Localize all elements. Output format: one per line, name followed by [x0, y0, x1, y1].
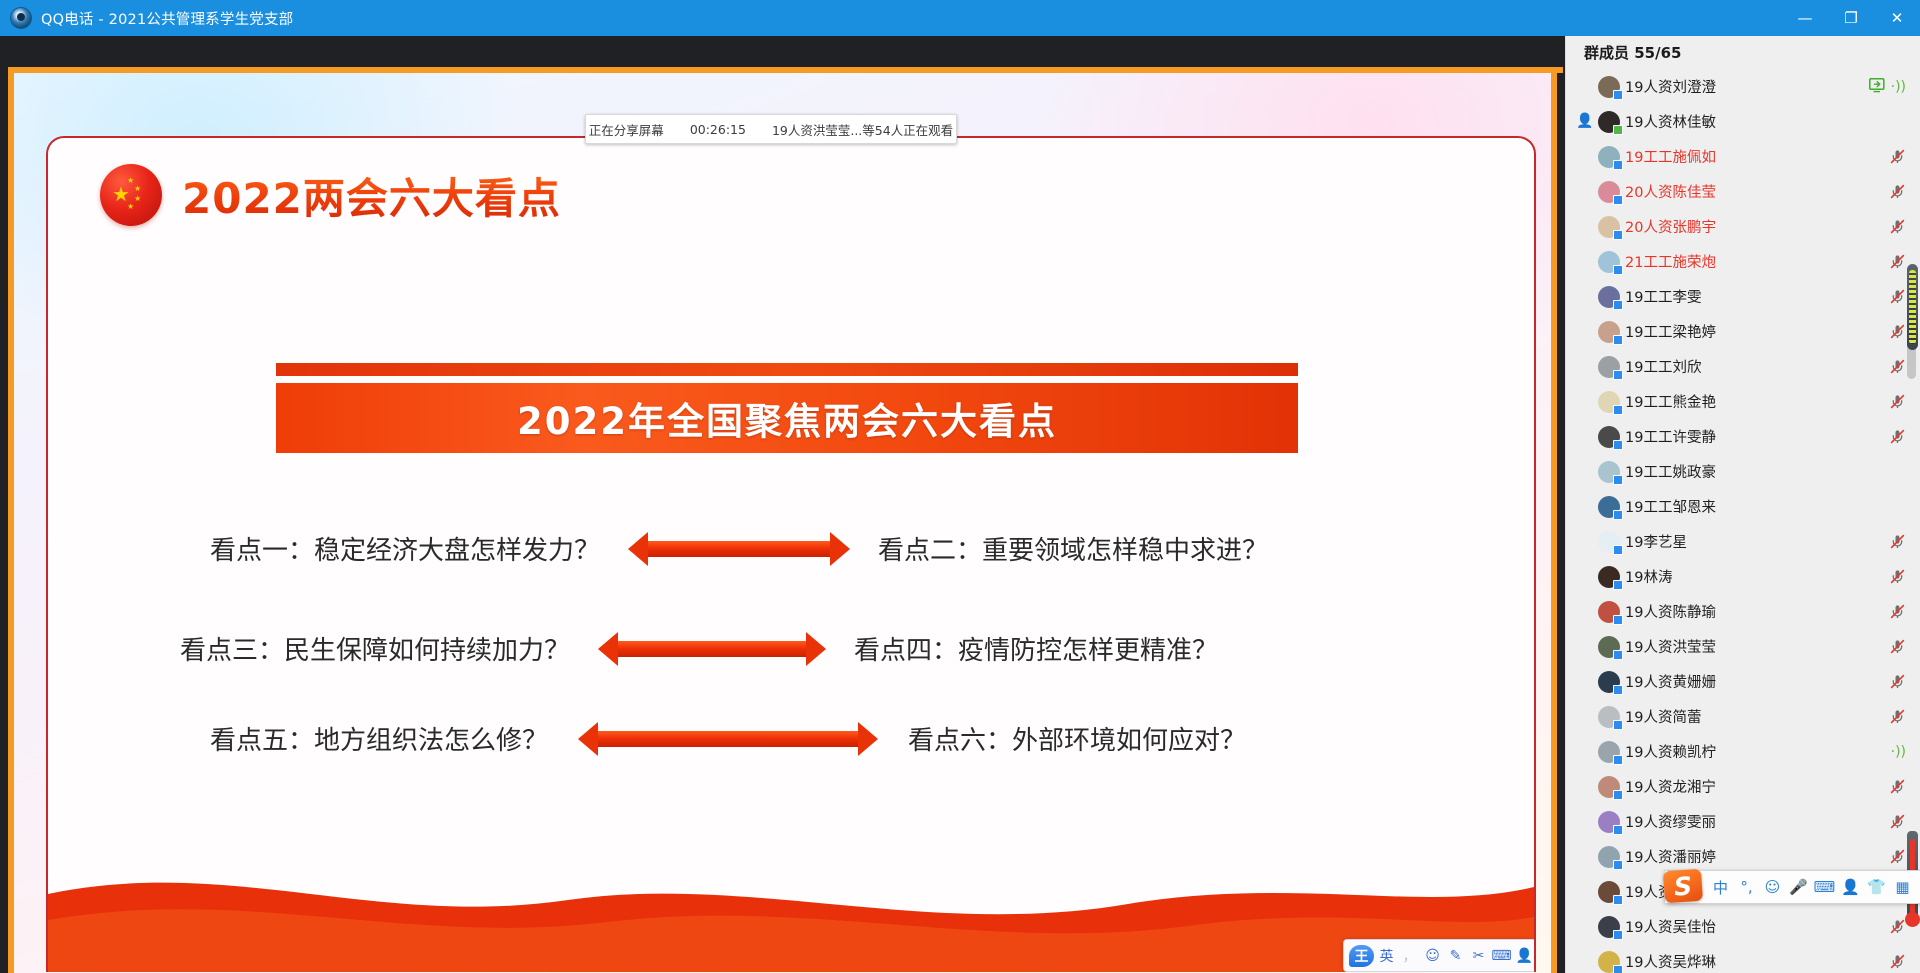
share-viewers: 19人资洪莹莹...等54人正在观看 — [772, 120, 953, 139]
avatar[interactable] — [1598, 426, 1620, 448]
member-name: 21工工施荣炮 — [1625, 251, 1716, 272]
member-status — [1889, 953, 1906, 970]
baidu-emoji-icon[interactable]: ☺ — [1422, 944, 1443, 968]
member-row[interactable]: 19林涛 — [1566, 559, 1920, 594]
member-status — [1889, 428, 1906, 445]
member-status — [1889, 918, 1906, 935]
double-arrow-icon — [598, 632, 826, 666]
member-status — [1889, 778, 1906, 795]
member-name: 19人资黄姗姗 — [1625, 671, 1716, 692]
baidu-ime-logo-icon[interactable]: 王 — [1349, 945, 1374, 967]
baidu-handwriting-pen-icon[interactable]: ✎ — [1445, 944, 1466, 968]
sogou-punctuation-icon[interactable]: °, — [1735, 874, 1758, 900]
baidu-language-toggle-icon[interactable]: 英 — [1376, 944, 1397, 968]
sogou-voice-input-icon[interactable]: 🎤 — [1787, 874, 1810, 900]
member-row[interactable]: 19工工刘欣 — [1566, 349, 1920, 384]
avatar[interactable] — [1598, 741, 1620, 763]
member-name: 19工工姚政豪 — [1625, 461, 1716, 482]
point-text-left: 看点一：稳定经济大盘怎样发力？ — [210, 530, 600, 567]
mic-muted-icon[interactable] — [1889, 638, 1906, 655]
avatar[interactable] — [1598, 356, 1620, 378]
members-header-label: 群成员 55/65 — [1584, 42, 1681, 63]
qq-badge-icon — [1613, 860, 1623, 870]
flag-star-3: ★ — [134, 195, 141, 203]
member-row[interactable]: 19人资龙湘宁 — [1566, 769, 1920, 804]
member-row[interactable]: 19李艺星 — [1566, 524, 1920, 559]
member-row[interactable]: 19人资潘丽婷 — [1566, 839, 1920, 874]
avatar[interactable] — [1598, 811, 1620, 833]
qq-badge-icon — [1613, 825, 1623, 835]
china-flag-icon: ★ ★ ★ ★ ★ — [100, 164, 162, 226]
mic-muted-icon[interactable] — [1889, 218, 1906, 235]
minimize-button[interactable]: — — [1782, 0, 1828, 36]
shared-screen-stage[interactable]: ★ ★ ★ ★ ★ 2022两会六大看点 2022年全国聚焦两会六大看点 — [0, 36, 1565, 973]
avatar[interactable] — [1598, 776, 1620, 798]
member-name: 19工工邹恩来 — [1625, 496, 1716, 517]
mic-muted-icon[interactable] — [1889, 288, 1906, 305]
slide-header: ★ ★ ★ ★ ★ 2022两会六大看点 — [100, 164, 561, 226]
presentation-board: ★ ★ ★ ★ ★ 2022两会六大看点 2022年全国聚焦两会六大看点 — [8, 67, 1557, 973]
qq-badge-icon — [1613, 370, 1623, 380]
member-row[interactable]: 19人资洪莹莹 — [1566, 629, 1920, 664]
member-status: ·)) — [1869, 78, 1906, 96]
mic-muted-icon[interactable] — [1889, 708, 1906, 725]
member-name: 19工工李雯 — [1625, 286, 1701, 307]
double-arrow-icon — [578, 722, 878, 756]
member-name: 19人资缪雯丽 — [1625, 811, 1716, 832]
sogou-skin-shirt-icon[interactable]: 👕 — [1865, 874, 1888, 900]
member-status — [1889, 603, 1906, 620]
baidu-ime-toolbar[interactable]: 王 英 ， ☺ ✎ ✂ ⌨ 👤 👕 ⚙ — [1343, 939, 1536, 972]
member-row[interactable]: 19人资缪雯丽 — [1566, 804, 1920, 839]
close-button[interactable]: ✕ — [1874, 0, 1920, 36]
flag-star-2: ★ — [134, 185, 141, 193]
member-status — [1889, 568, 1906, 585]
qq-badge-icon — [1613, 475, 1623, 485]
minimize-icon: — — [1798, 11, 1813, 26]
avatar[interactable] — [1598, 671, 1620, 693]
member-name: 19人资陈静瑜 — [1625, 601, 1716, 622]
member-name: 19工工许雯静 — [1625, 426, 1716, 447]
member-row[interactable]: 19工工姚政豪 — [1566, 454, 1920, 489]
avatar[interactable] — [1598, 146, 1620, 168]
avatar[interactable] — [1598, 496, 1620, 518]
member-status — [1889, 638, 1906, 655]
stage-topbar — [0, 36, 1565, 67]
member-row[interactable]: 19工工熊金艳 — [1566, 384, 1920, 419]
member-row[interactable]: 19工工李雯 — [1566, 279, 1920, 314]
point-text-right: 看点六：外部环境如何应对？ — [908, 720, 1246, 757]
member-name: 19人资龙湘宁 — [1625, 776, 1716, 797]
avatar[interactable] — [1598, 531, 1620, 553]
qq-badge-icon — [1613, 930, 1623, 940]
avatar[interactable] — [1598, 76, 1620, 98]
mic-muted-icon[interactable] — [1889, 253, 1906, 270]
member-name: 20人资陈佳莹 — [1625, 181, 1716, 202]
member-row[interactable]: 19人资吴佳怡 — [1566, 909, 1920, 944]
qq-call-window: QQ电话 - 2021公共管理系学生党支部 — ❐ ✕ ★ ★ ★ — [0, 0, 1920, 973]
member-row[interactable]: 19人资黄姗姗 — [1566, 664, 1920, 699]
qq-badge-icon — [1613, 965, 1623, 973]
avatar[interactable] — [1598, 636, 1620, 658]
mic-muted-icon[interactable] — [1889, 813, 1906, 830]
member-name: 19工工梁艳婷 — [1625, 321, 1716, 342]
qq-badge-icon — [1613, 685, 1623, 695]
avatar[interactable] — [1598, 601, 1620, 623]
speaking-icon: ·)) — [1891, 745, 1906, 759]
baidu-user-icon[interactable]: 👤 — [1514, 944, 1535, 968]
point-text-left: 看点三：民生保障如何持续加力？ — [180, 630, 570, 667]
baidu-soft-keyboard-icon[interactable]: ⌨ — [1491, 944, 1512, 968]
member-row[interactable]: 19工工梁艳婷 — [1566, 314, 1920, 349]
member-status — [1889, 673, 1906, 690]
mic-muted-icon[interactable] — [1889, 358, 1906, 375]
member-row[interactable]: 19人资简蕾 — [1566, 699, 1920, 734]
members-list[interactable]: 19人资刘澄澄·))👤19人资林佳敏19工工施佩如20人资陈佳莹20人资张鹏宇2… — [1566, 69, 1920, 973]
slide-banner: 2022年全国聚焦两会六大看点 — [276, 363, 1298, 453]
member-name: 19人资林佳敏 — [1625, 111, 1716, 132]
member-status — [1889, 708, 1906, 725]
qq-badge-icon — [1613, 580, 1623, 590]
member-name: 19工工熊金艳 — [1625, 391, 1716, 412]
member-status — [1889, 323, 1906, 340]
sogou-user-icon[interactable]: 👤 — [1839, 874, 1862, 900]
member-name: 19工工刘欣 — [1625, 356, 1701, 377]
member-status — [1889, 848, 1906, 865]
qq-badge-icon — [1613, 440, 1623, 450]
avatar[interactable] — [1598, 251, 1620, 273]
maximize-button[interactable]: ❐ — [1828, 0, 1874, 36]
member-status — [1889, 288, 1906, 305]
avatar[interactable] — [1598, 566, 1620, 588]
member-name: 19人资洪莹莹 — [1625, 636, 1716, 657]
share-status-label: 正在分享屏幕 — [589, 120, 664, 139]
qq-badge-icon — [1613, 790, 1623, 800]
member-row[interactable]: 20人资陈佳莹 — [1566, 174, 1920, 209]
title-bar: QQ电话 - 2021公共管理系学生党支部 — ❐ ✕ — [0, 0, 1920, 36]
qq-badge-icon — [1613, 125, 1623, 135]
member-row[interactable]: 21工工施荣炮 — [1566, 244, 1920, 279]
banner-top-stripe — [276, 363, 1298, 376]
members-header: 群成员 55/65 — [1566, 36, 1920, 69]
member-row[interactable]: 19工工邹恩来 — [1566, 489, 1920, 524]
slide-bottom-wave — [48, 842, 1536, 972]
qq-badge-icon — [1613, 160, 1623, 170]
window-title: QQ电话 - 2021公共管理系学生党支部 — [41, 8, 293, 29]
double-arrow-icon — [628, 532, 850, 566]
speaking-icon: ·)) — [1891, 80, 1906, 94]
qq-badge-icon — [1613, 195, 1623, 205]
qq-badge-icon — [1613, 650, 1623, 660]
avatar[interactable] — [1598, 461, 1620, 483]
member-name: 19人资吴佳怡 — [1625, 916, 1716, 937]
member-row[interactable]: 20人资张鹏宇 — [1566, 209, 1920, 244]
qq-badge-icon — [1613, 545, 1623, 555]
avatar[interactable] — [1598, 111, 1620, 133]
avatar[interactable] — [1598, 321, 1620, 343]
avatar[interactable] — [1598, 881, 1620, 903]
mic-muted-icon[interactable] — [1889, 428, 1906, 445]
qq-badge-icon — [1613, 895, 1623, 905]
slide-card: ★ ★ ★ ★ ★ 2022两会六大看点 2022年全国聚焦两会六大看点 — [46, 136, 1536, 972]
avatar[interactable] — [1598, 391, 1620, 413]
slide-point-row: 看点三：民生保障如何持续加力？ 看点四：疫情防控怎样更精准？ — [48, 630, 1534, 667]
member-row[interactable]: 19人资陈静瑜 — [1566, 594, 1920, 629]
member-row[interactable]: 👤19人资林佳敏 — [1566, 104, 1920, 139]
mic-muted-icon[interactable] — [1889, 603, 1906, 620]
maximize-icon: ❐ — [1844, 11, 1857, 26]
window-controls: — ❐ ✕ — [1782, 0, 1920, 36]
share-duration: 00:26:15 — [690, 122, 746, 137]
qq-badge-icon — [1613, 615, 1623, 625]
mic-muted-icon[interactable] — [1889, 323, 1906, 340]
point-text-left: 看点五：地方组织法怎么修？ — [210, 720, 548, 757]
mic-muted-icon[interactable] — [1889, 183, 1906, 200]
volume-gauge-indicator — [1907, 264, 1918, 350]
member-row[interactable]: 19人资吴烨琳 — [1566, 944, 1920, 973]
avatar[interactable] — [1598, 286, 1620, 308]
qq-badge-icon — [1613, 335, 1623, 345]
qq-badge-icon — [1613, 510, 1623, 520]
member-row[interactable]: 19人资刘澄澄·)) — [1566, 69, 1920, 104]
banner-title: 2022年全国聚焦两会六大看点 — [517, 391, 1057, 445]
member-status — [1889, 148, 1906, 165]
member-name: 19工工施佩如 — [1625, 146, 1716, 167]
slide-point-row: 看点一：稳定经济大盘怎样发力？ 看点二：重要领域怎样稳中求进？ — [48, 530, 1534, 567]
member-name: 19人资潘丽婷 — [1625, 846, 1716, 867]
member-row[interactable]: 19人资赖凯柠·)) — [1566, 734, 1920, 769]
qq-logo-icon — [10, 7, 32, 29]
point-text-right: 看点四：疫情防控怎样更精准？ — [854, 630, 1218, 667]
qq-badge-icon — [1613, 755, 1623, 765]
member-status — [1889, 218, 1906, 235]
member-status — [1889, 533, 1906, 550]
sogou-emoji-icon[interactable]: ☺ — [1761, 874, 1784, 900]
mic-muted-icon[interactable] — [1889, 568, 1906, 585]
qq-badge-icon — [1613, 90, 1623, 100]
sogou-soft-keyboard-icon[interactable]: ⌨ — [1813, 874, 1836, 900]
mic-muted-icon[interactable] — [1889, 953, 1906, 970]
banner-body: 2022年全国聚焦两会六大看点 — [276, 383, 1298, 453]
baidu-punctuation-icon[interactable]: ， — [1399, 944, 1420, 968]
member-name: 19人资吴烨琳 — [1625, 951, 1716, 972]
flag-star-4: ★ — [127, 203, 134, 211]
member-status — [1889, 253, 1906, 270]
member-name: 19人资刘澄澄 — [1625, 76, 1716, 97]
members-panel: 群成员 55/65 19人资刘澄澄·))👤19人资林佳敏19工工施佩如20人资陈… — [1565, 36, 1920, 973]
flag-star-big: ★ — [112, 184, 130, 204]
qq-badge-icon — [1613, 300, 1623, 310]
avatar[interactable] — [1598, 706, 1620, 728]
qq-badge-icon — [1613, 720, 1623, 730]
mic-muted-icon[interactable] — [1889, 848, 1906, 865]
screen-sharing-icon — [1869, 78, 1886, 96]
avatar[interactable] — [1598, 916, 1620, 938]
member-status — [1889, 393, 1906, 410]
mic-muted-icon[interactable] — [1889, 533, 1906, 550]
host-badge-icon: 👤 — [1576, 113, 1593, 130]
qq-badge-icon — [1613, 405, 1623, 415]
baidu-scissors-icon[interactable]: ✂ — [1468, 944, 1489, 968]
sogou-ime-logo-icon[interactable]: S — [1662, 866, 1704, 906]
qq-badge-icon — [1613, 230, 1623, 240]
avatar[interactable] — [1598, 951, 1620, 973]
mic-muted-icon[interactable] — [1889, 673, 1906, 690]
member-row[interactable]: 19工工施佩如 — [1566, 139, 1920, 174]
mic-muted-icon[interactable] — [1889, 918, 1906, 935]
member-name: 19林涛 — [1625, 566, 1672, 587]
member-name: 19人资简蕾 — [1625, 706, 1701, 727]
screen-share-status-bar[interactable]: 正在分享屏幕 00:26:15 19人资洪莹莹...等54人正在观看 — [585, 114, 957, 144]
member-status — [1889, 813, 1906, 830]
qq-badge-icon — [1613, 265, 1623, 275]
slide-point-row: 看点五：地方组织法怎么修？ 看点六：外部环境如何应对？ — [48, 720, 1534, 757]
sogou-language-toggle-icon[interactable]: 中 — [1709, 874, 1732, 900]
mic-muted-icon[interactable] — [1889, 778, 1906, 795]
avatar[interactable] — [1598, 846, 1620, 868]
member-name: 19李艺星 — [1625, 531, 1687, 552]
slide-heading: 2022两会六大看点 — [182, 165, 561, 226]
point-text-right: 看点二：重要领域怎样稳中求进？ — [878, 530, 1268, 567]
sogou-app-grid-icon[interactable]: ▦ — [1891, 874, 1914, 900]
close-icon: ✕ — [1891, 11, 1904, 26]
mic-muted-icon[interactable] — [1889, 393, 1906, 410]
member-status — [1889, 183, 1906, 200]
member-status: ·)) — [1891, 745, 1906, 759]
mic-muted-icon[interactable] — [1889, 148, 1906, 165]
avatar[interactable] — [1598, 181, 1620, 203]
member-row[interactable]: 19工工许雯静 — [1566, 419, 1920, 454]
member-name: 19人资赖凯柠 — [1625, 741, 1716, 762]
member-name: 20人资张鹏宇 — [1625, 216, 1716, 237]
member-status — [1889, 358, 1906, 375]
avatar[interactable] — [1598, 216, 1620, 238]
sogou-logo-glyph: S — [1663, 869, 1703, 904]
